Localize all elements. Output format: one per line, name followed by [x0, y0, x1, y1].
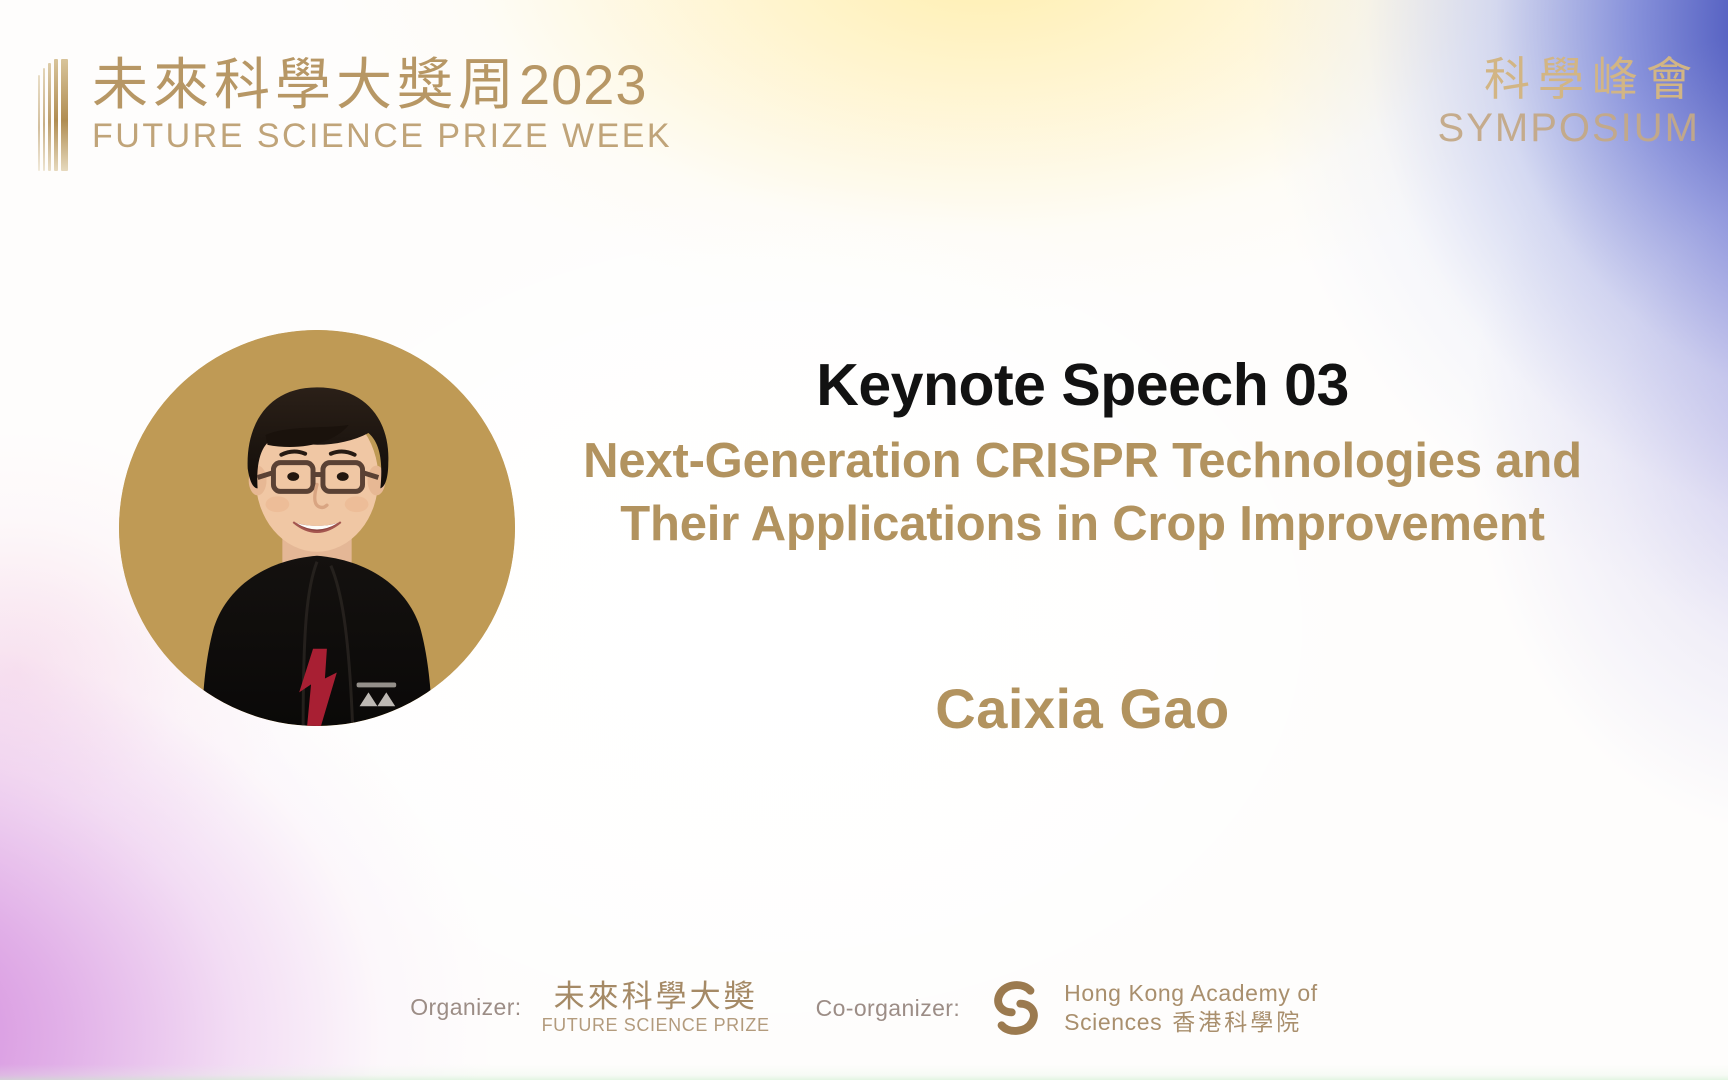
- footer-organizers: Organizer: 未來科學大奬 FUTURE SCIENCE PRIZE C…: [0, 972, 1728, 1044]
- hkas-name-en: Sciences: [1064, 1009, 1162, 1035]
- organizer-group: Organizer: 未來科學大奬 FUTURE SCIENCE PRIZE: [410, 980, 769, 1035]
- speaker-name: Caixia Gao: [520, 676, 1645, 741]
- hkas-name-line-1: Hong Kong Academy of: [1064, 979, 1318, 1008]
- presentation-slide: 未來科學大獎周2023 FUTURE SCIENCE PRIZE WEEK 科學…: [0, 0, 1728, 1080]
- future-science-prize-logo: 未來科學大奬 FUTURE SCIENCE PRIZE: [542, 980, 770, 1035]
- session-title: Next-Generation CRISPR Technologies and …: [520, 430, 1645, 555]
- event-logo-en: FUTURE SCIENCE PRIZE WEEK: [92, 118, 672, 155]
- hkas-swirl-icon: [980, 972, 1052, 1044]
- hkas-name-line-2: Sciences香港科學院: [1064, 1008, 1318, 1037]
- fsp-logo-cn: 未來科學大奬: [554, 980, 758, 1013]
- event-logo-year: 2023: [519, 53, 648, 116]
- organizer-label: Organizer:: [410, 994, 521, 1021]
- coorganizer-group: Co-organizer: Hong Kong Academy of Scien…: [816, 972, 1318, 1044]
- hkas-name-cn: 香港科學院: [1172, 1009, 1302, 1035]
- event-logo: 未來科學大獎周2023 FUTURE SCIENCE PRIZE WEEK: [38, 55, 672, 171]
- session-label: Keynote Speech 03: [520, 352, 1645, 418]
- fsp-logo-en: FUTURE SCIENCE PRIZE: [542, 1016, 770, 1036]
- symposium-logo: 科學峰會 SYMPOSIUM: [1438, 54, 1700, 149]
- coorganizer-label: Co-organizer:: [816, 995, 961, 1022]
- gold-bars-icon: [38, 55, 68, 171]
- session-title-line-1: Next-Generation CRISPR Technologies and: [520, 430, 1645, 493]
- session-title-line-2: Their Applications in Crop Improvement: [520, 493, 1645, 556]
- speaker-portrait: [119, 330, 515, 726]
- hkas-logo: Hong Kong Academy of Sciences香港科學院: [980, 972, 1318, 1044]
- session-text-block: Keynote Speech 03 Next-Generation CRISPR…: [520, 352, 1645, 556]
- event-logo-cn-text: 未來科學大獎周: [92, 53, 519, 116]
- event-logo-cn: 未來科學大獎周2023: [92, 55, 672, 114]
- symposium-logo-en: SYMPOSIUM: [1438, 107, 1700, 149]
- symposium-logo-cn: 科學峰會: [1438, 54, 1700, 105]
